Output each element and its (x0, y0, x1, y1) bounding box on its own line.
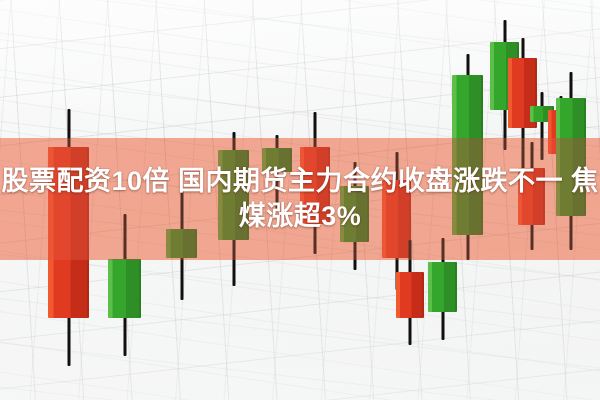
candlestick-chart-banner: 股票配资10倍 国内期货主力合约收盘涨跌不一 焦 煤涨超3% (0, 0, 600, 400)
headline-text: 股票配资10倍 国内期货主力合约收盘涨跌不一 焦 煤涨超3% (0, 164, 600, 234)
headline-line-1: 股票配资10倍 国内期货主力合约收盘涨跌不一 焦 (0, 164, 600, 199)
candle-body (108, 259, 141, 318)
candle-body (396, 272, 424, 318)
candle-body (428, 262, 457, 312)
headline-line-2: 煤涨超3% (0, 199, 600, 234)
